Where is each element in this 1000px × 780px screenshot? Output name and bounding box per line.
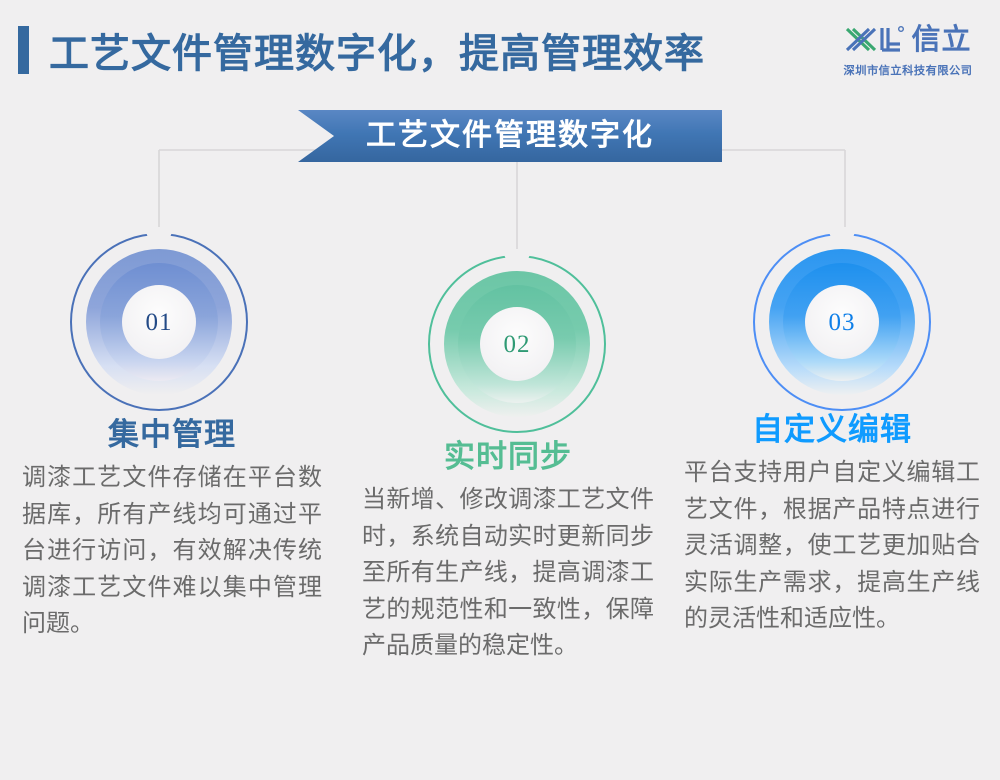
feature-body-01: 调漆工艺文件存储在平台数据库，所有产线均可通过平台进行访问，有效解决传统调漆工艺… [22,460,322,642]
feature-title-03: 自定义编辑 [684,413,980,447]
section-banner: 工艺文件管理数字化 [298,110,722,162]
ring-core-03: 03 [805,285,879,359]
feature-block-02: 实时同步 当新增、修改调漆工艺文件时，系统自动实时更新同步至所有生产线，提高调漆… [362,440,654,664]
page-header: 工艺文件管理数字化，提高管理效率 信立 [0,0,1000,100]
logo-mark-row: 信立 [834,22,982,58]
header-accent-bar [18,26,29,74]
feature-body-03: 平台支持用户自定义编辑工艺文件，根据产品特点进行灵活调整，使工艺更加贴合实际生产… [684,455,980,637]
step-number-02: 02 [504,332,531,357]
step-circle-02: 02 [428,255,606,433]
feature-block-01: 集中管理 调漆工艺文件存储在平台数据库，所有产线均可通过平台进行访问，有效解决传… [22,418,322,642]
page-title: 工艺文件管理数字化，提高管理效率 [49,21,705,79]
step-circle-03: 03 [753,233,931,411]
ring-core-02: 02 [480,307,554,381]
feature-block-03: 自定义编辑 平台支持用户自定义编辑工艺文件，根据产品特点进行灵活调整，使工艺更加… [684,413,980,637]
company-logo: 信立 深圳市信立科技有限公司 [834,22,982,78]
step-circle-01: 01 [70,233,248,411]
logo-company-subtitle: 深圳市信立科技有限公司 [833,62,984,78]
section-banner-label: 工艺文件管理数字化 [366,121,654,151]
feature-title-01: 集中管理 [22,418,322,452]
step-number-03: 03 [829,310,856,335]
step-number-01: 01 [146,310,173,335]
xl-monogram-icon [844,23,906,57]
feature-title-02: 实时同步 [362,440,654,474]
ring-core-01: 01 [122,285,196,359]
feature-body-02: 当新增、修改调漆工艺文件时，系统自动实时更新同步至所有生产线，提高调漆工艺的规范… [362,482,654,664]
logo-company-name: 信立 [911,26,971,55]
